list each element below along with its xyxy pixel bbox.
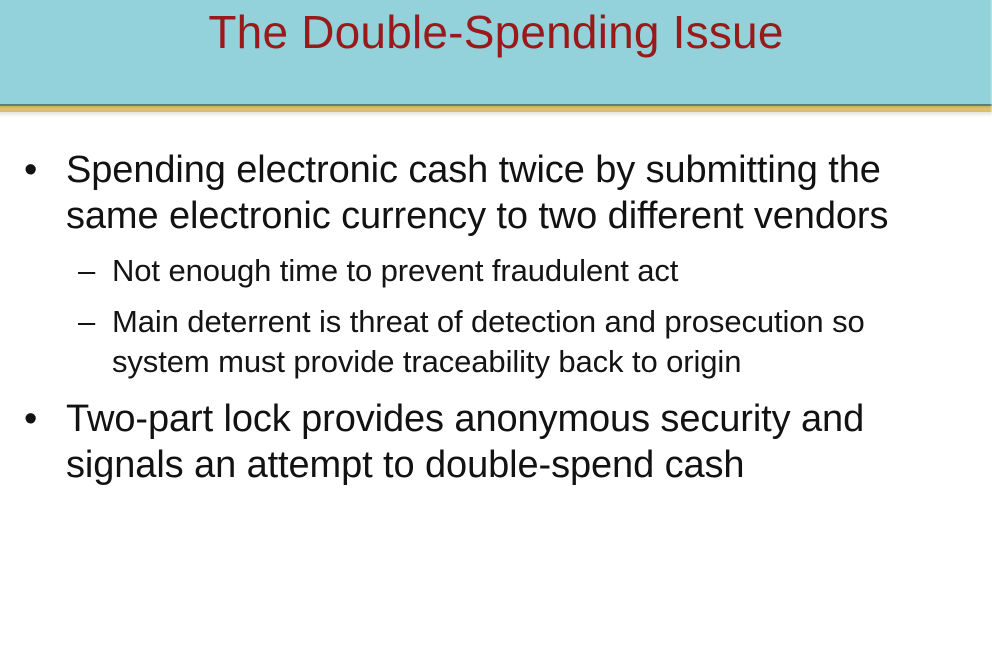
sub-bullet-item: – Main deterrent is threat of detection …	[0, 302, 992, 382]
bullet-marker-dot: •	[24, 396, 48, 442]
slide-title: The Double-Spending Issue	[0, 7, 992, 59]
bullet-marker-dash: –	[78, 302, 106, 342]
slide-body: • Spending electronic cash twice by subm…	[0, 117, 992, 670]
sub-bullet-item: – Not enough time to prevent fraudulent …	[0, 251, 992, 291]
bullet-marker-dash: –	[78, 251, 106, 291]
slide: The Double-Spending Issue • Spending ele…	[0, 0, 992, 670]
title-band: The Double-Spending Issue	[0, 0, 992, 104]
sub-bullet-text: Main deterrent is threat of detection an…	[112, 302, 956, 382]
bullet-text: Two-part lock provides anonymous securit…	[66, 396, 956, 488]
bullet-item: • Two-part lock provides anonymous secur…	[0, 396, 992, 488]
bullet-marker-dot: •	[24, 147, 48, 193]
bullet-item: • Spending electronic cash twice by subm…	[0, 147, 992, 239]
sub-bullet-text: Not enough time to prevent fraudulent ac…	[112, 251, 956, 291]
bullet-text: Spending electronic cash twice by submit…	[66, 147, 956, 239]
